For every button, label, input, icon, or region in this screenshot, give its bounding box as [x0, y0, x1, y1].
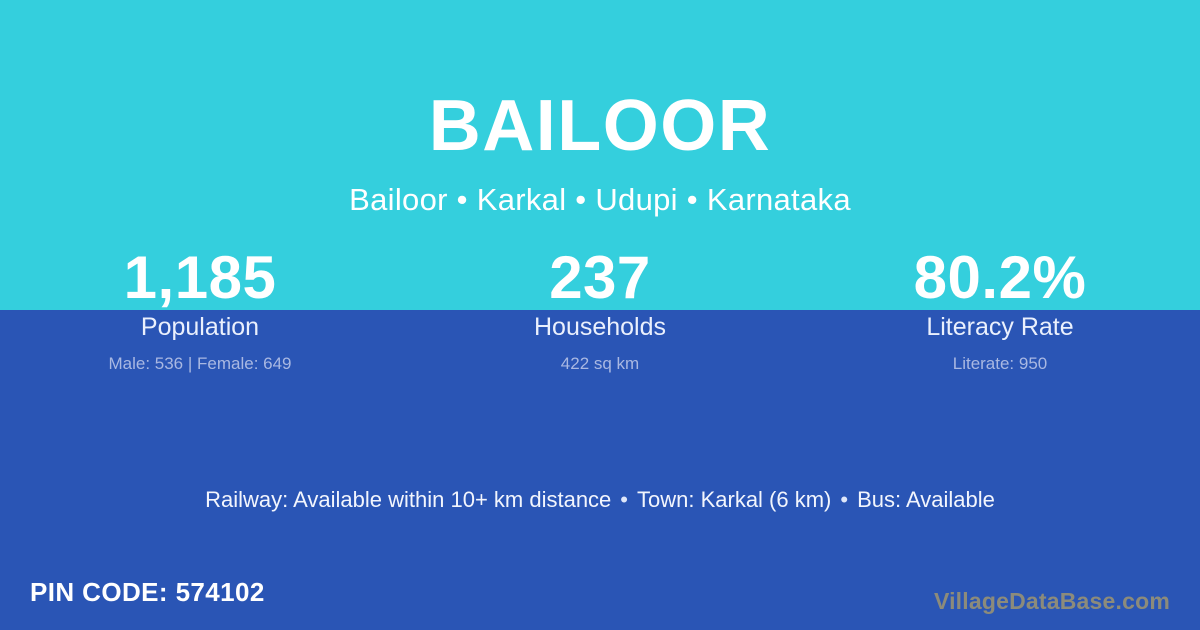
stat-label-households: Households — [400, 310, 800, 344]
stat-value-population: 1,185 — [0, 246, 400, 310]
stat-sub-literacy-rate: Literate: 950 — [800, 351, 1200, 377]
stat-label-population: Population — [0, 310, 400, 344]
amenities-row: Railway: Available within 10+ km distanc… — [0, 484, 1200, 516]
stat-value-literacy-rate: 80.2% — [800, 246, 1200, 310]
stat-label-literacy-rate: Literacy Rate — [800, 310, 1200, 344]
stat-literacy-rate: 80.2% Literacy Rate Literate: 950 — [800, 246, 1200, 377]
amenity-bus: Bus: Available — [857, 487, 995, 512]
site-brand: VillageDataBase.com — [934, 586, 1170, 616]
page-title: BAILOOR — [0, 86, 1200, 166]
village-info-card: BAILOOR Bailoor • Karkal • Udupi • Karna… — [0, 0, 1200, 630]
amenity-separator-1: • — [611, 487, 637, 512]
stat-value-households: 237 — [400, 246, 800, 310]
amenity-railway: Railway: Available within 10+ km distanc… — [205, 487, 611, 512]
pin-code: PIN CODE: 574102 — [30, 576, 265, 608]
stat-population: 1,185 Population Male: 536 | Female: 649 — [0, 246, 400, 377]
stat-sub-households: 422 sq km — [400, 351, 800, 377]
stats-row: 1,185 Population Male: 536 | Female: 649… — [0, 246, 1200, 377]
stat-households: 237 Households 422 sq km — [400, 246, 800, 377]
amenity-town: Town: Karkal (6 km) — [637, 487, 831, 512]
breadcrumb: Bailoor • Karkal • Udupi • Karnataka — [0, 180, 1200, 220]
stat-sub-population: Male: 536 | Female: 649 — [0, 351, 400, 377]
amenity-separator-2: • — [831, 487, 857, 512]
